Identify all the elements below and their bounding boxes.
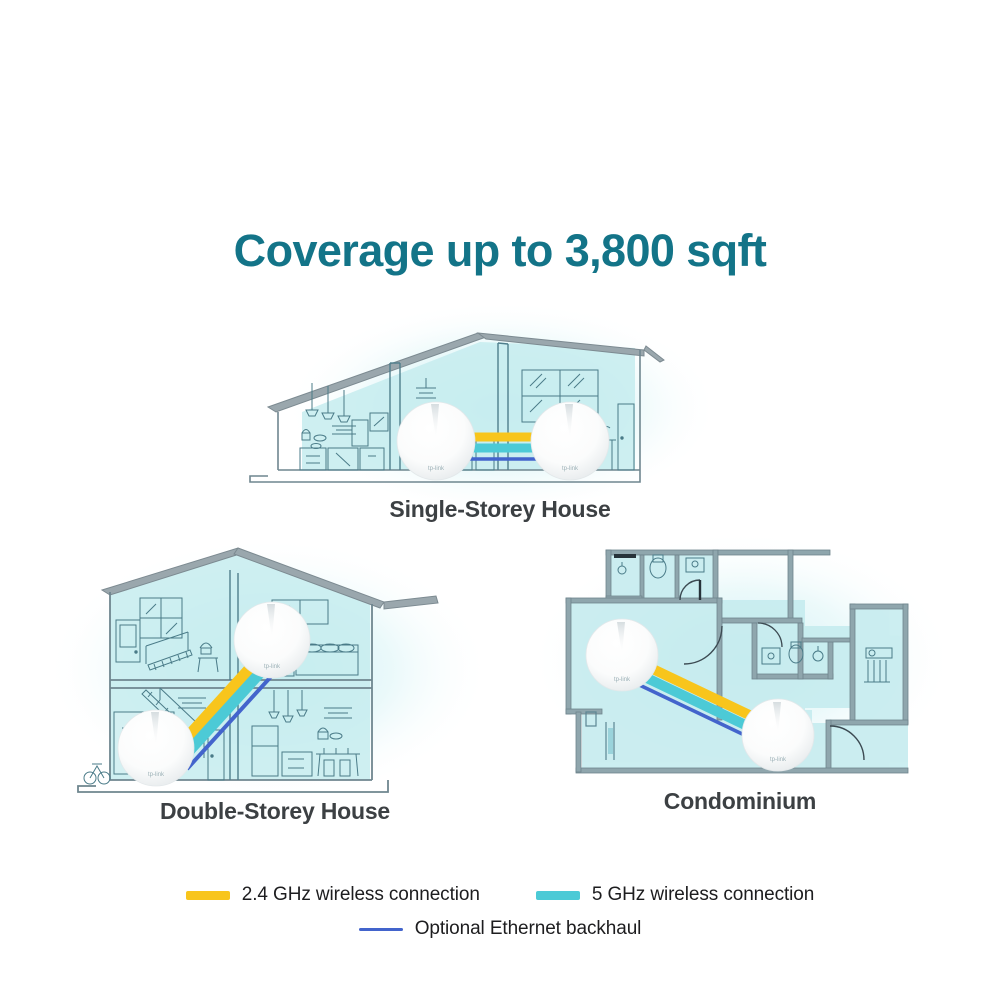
scenario-label-single-storey: Single-Storey House: [240, 496, 760, 523]
deco-logo: tp-link: [264, 664, 281, 670]
deco-logo: tp-link: [428, 466, 445, 472]
scenario-label-double-storey: Double-Storey House: [40, 798, 510, 825]
deco-logo: tp-link: [770, 757, 787, 763]
coverage-infographic: Coverage up to 3,800 sqft: [0, 0, 1000, 1000]
deco-logo: tp-link: [614, 677, 631, 683]
legend-swatch-ethernet: [359, 928, 403, 931]
legend-swatch-5ghz: [536, 891, 580, 900]
legend-label-5ghz: 5 GHz wireless connection: [592, 884, 814, 906]
scenario-double-storey: tp-link tp-link Double-Storey House: [40, 540, 510, 840]
condominium-floorplan-illustration: tp-link tp-link: [530, 530, 950, 800]
deco-unit: tp-link: [397, 402, 475, 480]
scenario-single-storey: tp-link tp-link Single-Storey House: [240, 300, 760, 530]
deco-logo: tp-link: [562, 466, 579, 472]
deco-unit: tp-link: [742, 699, 814, 771]
deco-logo: tp-link: [148, 772, 165, 778]
deco-unit: tp-link: [234, 602, 310, 678]
page-title: Coverage up to 3,800 sqft: [0, 228, 1000, 273]
legend-item-ethernet: Optional Ethernet backhaul: [359, 918, 642, 940]
deco-unit: tp-link: [586, 619, 658, 691]
scenario-label-condominium: Condominium: [530, 788, 950, 815]
double-storey-house-illustration: tp-link tp-link: [40, 540, 510, 810]
deco-unit: tp-link: [531, 402, 609, 480]
legend-item-5ghz: 5 GHz wireless connection: [536, 884, 814, 906]
legend-label-ethernet: Optional Ethernet backhaul: [415, 918, 642, 940]
legend-item-2.4ghz: 2.4 GHz wireless connection: [186, 884, 480, 906]
legend-row-wireless: 2.4 GHz wireless connection 5 GHz wirele…: [0, 884, 1000, 906]
legend-swatch-2.4ghz: [186, 891, 230, 900]
scenario-condominium: tp-link tp-link Condominium: [530, 530, 950, 830]
single-storey-house-illustration: tp-link tp-link: [240, 300, 760, 500]
legend-row-ethernet: Optional Ethernet backhaul: [0, 918, 1000, 940]
legend-label-2.4ghz: 2.4 GHz wireless connection: [242, 884, 480, 906]
legend: 2.4 GHz wireless connection 5 GHz wirele…: [0, 884, 1000, 940]
deco-unit: tp-link: [118, 710, 194, 786]
